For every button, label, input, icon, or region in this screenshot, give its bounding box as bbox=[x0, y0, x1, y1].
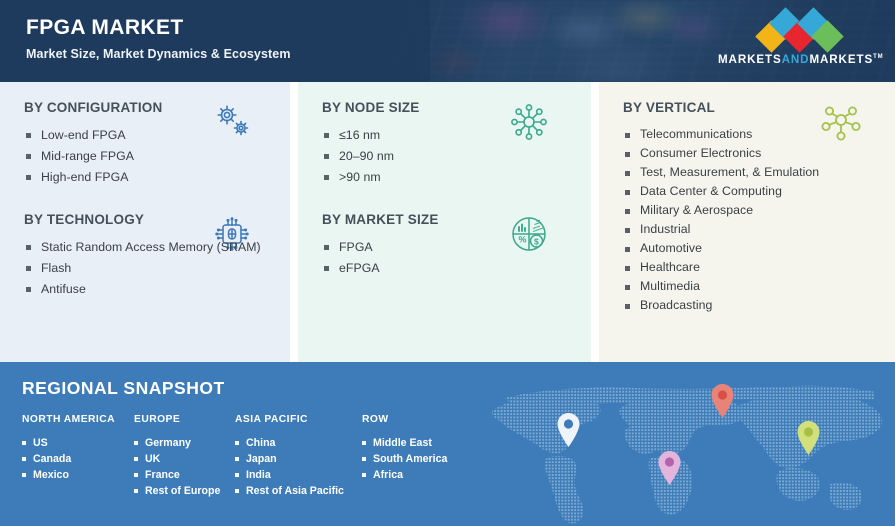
list-by-vertical: Telecommunications Consumer Electronics … bbox=[623, 125, 875, 315]
list-item: Test, Measurement, & Emulation bbox=[623, 163, 875, 182]
region-list: Germany UK France Rest of Europe bbox=[134, 435, 220, 499]
region-heading: NORTH AMERICA bbox=[22, 414, 115, 425]
list-item: High-end FPGA bbox=[24, 167, 270, 188]
region-list: China Japan India Rest of Asia Pacific bbox=[235, 435, 344, 499]
list-item: Consumer Electronics bbox=[623, 144, 875, 163]
list-item: UK bbox=[134, 451, 220, 467]
logo-diamonds-icon bbox=[733, 11, 853, 51]
list-item: US bbox=[22, 435, 115, 451]
group-by-vertical: BY VERTICAL Telecommunications Consumer … bbox=[623, 100, 875, 315]
list-item: Military & Aerospace bbox=[623, 201, 875, 220]
list-item: Germany bbox=[134, 435, 220, 451]
header-title-block: FPGA MARKET Market Size, Market Dynamics… bbox=[26, 16, 291, 62]
infographic-page: FPGA MARKET Market Size, Market Dynamics… bbox=[0, 0, 895, 526]
region-row: ROW Middle East South America Africa bbox=[362, 414, 447, 483]
group-by-market-size: % $ BY MARKET SIZE FPGA eFPGA bbox=[322, 212, 571, 279]
column-nodesize-marketsize: BY NODE SIZE ≤16 nm 20–90 nm >90 nm bbox=[298, 82, 591, 362]
brand-logo: MARKETSANDMARKETSTM bbox=[718, 11, 868, 66]
list-item: FPGA bbox=[322, 237, 571, 258]
list-item: Japan bbox=[235, 451, 344, 467]
list-by-configuration: Low-end FPGA Mid-range FPGA High-end FPG… bbox=[24, 125, 270, 188]
region-heading: EUROPE bbox=[134, 414, 220, 425]
logo-trademark: TM bbox=[873, 54, 883, 60]
list-item: Mexico bbox=[22, 467, 115, 483]
page-title: FPGA MARKET bbox=[26, 16, 291, 40]
list-item: South America bbox=[362, 451, 447, 467]
region-list: Middle East South America Africa bbox=[362, 435, 447, 483]
list-item: India bbox=[235, 467, 344, 483]
pin-asia-pacific bbox=[795, 420, 822, 456]
list-item: China bbox=[235, 435, 344, 451]
list-item: Antifuse bbox=[24, 279, 270, 300]
list-item: 20–90 nm bbox=[322, 146, 571, 167]
list-item: Flash bbox=[24, 258, 270, 279]
region-heading: ROW bbox=[362, 414, 447, 425]
list-item: Industrial bbox=[623, 220, 875, 239]
list-item: Mid-range FPGA bbox=[24, 146, 270, 167]
list-item: Africa bbox=[362, 467, 447, 483]
header-banner: FPGA MARKET Market Size, Market Dynamics… bbox=[0, 0, 895, 82]
category-columns: BY CONFIGURATION Low-end FPGA Mid-range … bbox=[0, 82, 895, 362]
group-by-node-size: BY NODE SIZE ≤16 nm 20–90 nm >90 nm bbox=[322, 100, 571, 188]
logo-word-markets-1: MARKETS bbox=[718, 53, 782, 66]
list-item: Middle East bbox=[362, 435, 447, 451]
regional-snapshot-section: REGIONAL SNAPSHOT NORTH AMERICA US Canad… bbox=[0, 362, 895, 526]
list-by-node-size: ≤16 nm 20–90 nm >90 nm bbox=[322, 125, 571, 188]
group-by-technology: BY TECHNOLOGY Static Random Access Memor… bbox=[24, 212, 270, 300]
region-heading: ASIA PACIFIC bbox=[235, 414, 344, 425]
regional-snapshot-title: REGIONAL SNAPSHOT bbox=[22, 378, 225, 399]
list-item: Low-end FPGA bbox=[24, 125, 270, 146]
region-list: US Canada Mexico bbox=[22, 435, 115, 483]
list-by-market-size: FPGA eFPGA bbox=[322, 237, 571, 279]
page-subtitle: Market Size, Market Dynamics & Ecosystem bbox=[26, 47, 291, 62]
column-vertical: BY VERTICAL Telecommunications Consumer … bbox=[599, 82, 895, 362]
list-item: Static Random Access Memory (SRAM) bbox=[24, 237, 270, 258]
list-item: Healthcare bbox=[623, 258, 875, 277]
list-item: France bbox=[134, 467, 220, 483]
pin-north-america bbox=[555, 412, 582, 448]
group-by-configuration: BY CONFIGURATION Low-end FPGA Mid-range … bbox=[24, 100, 270, 188]
logo-word-markets-2: MARKETS bbox=[809, 53, 873, 66]
list-by-technology: Static Random Access Memory (SRAM) Flash… bbox=[24, 237, 270, 300]
list-item: >90 nm bbox=[322, 167, 571, 188]
region-asia-pacific: ASIA PACIFIC China Japan India Rest of A… bbox=[235, 414, 344, 499]
list-item: Telecommunications bbox=[623, 125, 875, 144]
list-item: Automotive bbox=[623, 239, 875, 258]
world-map-dotted bbox=[475, 362, 895, 526]
list-item: Data Center & Computing bbox=[623, 182, 875, 201]
list-item: Broadcasting bbox=[623, 296, 875, 315]
pin-europe bbox=[709, 383, 736, 419]
list-item: Canada bbox=[22, 451, 115, 467]
logo-word-and: AND bbox=[782, 53, 810, 66]
pin-africa bbox=[656, 450, 683, 486]
column-configuration-technology: BY CONFIGURATION Low-end FPGA Mid-range … bbox=[0, 82, 290, 362]
logo-wordmark: MARKETSANDMARKETSTM bbox=[718, 53, 868, 66]
region-north-america: NORTH AMERICA US Canada Mexico bbox=[22, 414, 115, 483]
list-item: Rest of Europe bbox=[134, 483, 220, 499]
list-item: ≤16 nm bbox=[322, 125, 571, 146]
list-item: Multimedia bbox=[623, 277, 875, 296]
region-europe: EUROPE Germany UK France Rest of Europe bbox=[134, 414, 220, 499]
list-item: Rest of Asia Pacific bbox=[235, 483, 344, 499]
list-item: eFPGA bbox=[322, 258, 571, 279]
